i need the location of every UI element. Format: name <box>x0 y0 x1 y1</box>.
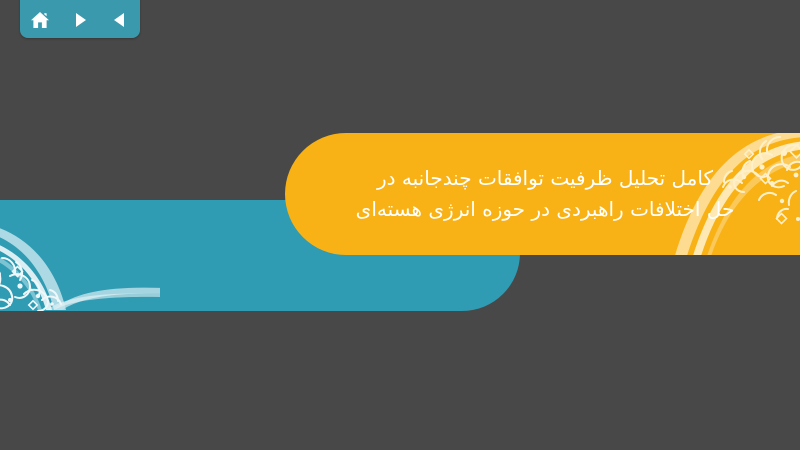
forward-icon <box>70 10 90 30</box>
home-icon <box>29 10 51 30</box>
navigation-bar <box>20 0 140 38</box>
title-line-1: کامل تحلیل ظرفیت توافقات چندجانبه در <box>285 163 800 194</box>
arabesque-ornament-icon <box>0 200 160 311</box>
back-icon <box>110 10 130 30</box>
back-button[interactable] <box>107 8 133 32</box>
slide-canvas: کامل تحلیل ظرفیت توافقات چندجانبه در حل … <box>0 0 800 450</box>
title-line-2: حل اختلافات راهبردی در حوزه انرژی هسته‌ا… <box>285 194 800 225</box>
home-button[interactable] <box>27 8 53 32</box>
title-banner: کامل تحلیل ظرفیت توافقات چندجانبه در حل … <box>285 133 800 255</box>
forward-button[interactable] <box>67 8 93 32</box>
